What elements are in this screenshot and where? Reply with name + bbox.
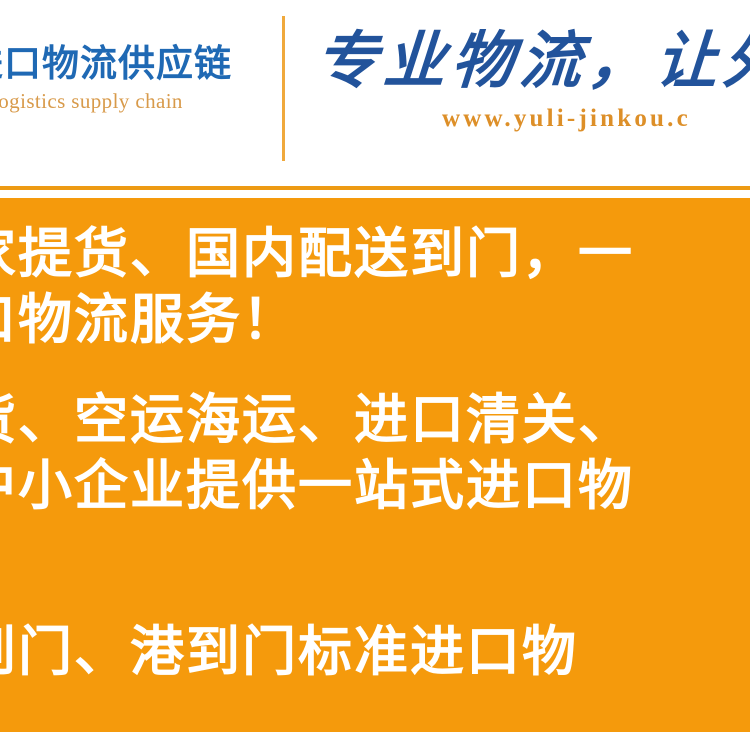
panel-copy-line-2: 门进口物流服务！ bbox=[0, 290, 298, 350]
panel-copy-line-3: 厂提货、空运海运、进口清关、 bbox=[0, 390, 634, 450]
logo-chinese-name: 励进口物流供应链 bbox=[0, 42, 268, 85]
slogan-text: 专业物流，让外 bbox=[313, 26, 750, 96]
header-vertical-divider bbox=[282, 16, 285, 161]
slogan-block: 专业物流，让外 www.yuli-jinkou.c bbox=[318, 26, 750, 133]
header-horizontal-rule bbox=[0, 186, 750, 190]
marketing-banner: 励进口物流供应链 import logistics supply chain 专… bbox=[0, 0, 750, 750]
footer-white-strip bbox=[0, 732, 750, 750]
panel-copy-line-4: 注为中小企业提供一站式进口物 bbox=[0, 456, 634, 516]
banner-header: 励进口物流供应链 import logistics supply chain 专… bbox=[0, 0, 750, 189]
panel-copy-line-5: 球门到门、港到门标准进口物 bbox=[0, 622, 578, 682]
website-url: www.yuli-jinkou.c bbox=[442, 104, 750, 133]
company-logo: 励进口物流供应链 import logistics supply chain bbox=[0, 42, 268, 114]
logo-english-tagline: import logistics supply chain bbox=[0, 89, 268, 114]
orange-content-panel: 外厂家提货、国内配送到门，一 门进口物流服务！ 厂提货、空运海运、进口清关、 注… bbox=[0, 198, 750, 732]
panel-copy-line-1: 外厂家提货、国内配送到门，一 bbox=[0, 224, 634, 284]
